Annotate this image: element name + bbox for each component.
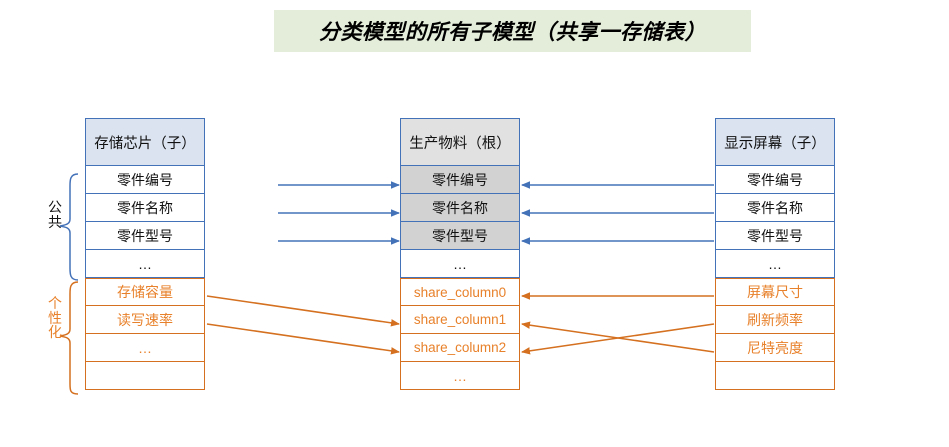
table-storage-chip-row-common-1: 零件名称: [85, 194, 205, 222]
group-label-custom: 个 性 化: [44, 296, 66, 340]
group-label-common: 公 共: [44, 200, 66, 229]
table-storage-chip: 存储芯片（子） 零件编号 零件名称 零件型号 … 存储容量 读写速率 …: [85, 118, 205, 390]
diagram-title-banner: 分类模型的所有子模型（共享一存储表）: [274, 10, 751, 52]
table-storage-chip-row-common-2: 零件型号: [85, 222, 205, 250]
table-display-screen-row-common-2: 零件型号: [715, 222, 835, 250]
table-display-screen-row-custom-3: [715, 362, 835, 390]
table-production-material-row-common-2: 零件型号: [400, 222, 520, 250]
arrow-left-custom-1: [207, 296, 399, 324]
table-display-screen: 显示屏幕（子） 零件编号 零件名称 零件型号 … 屏幕尺寸 刷新频率 尼特亮度: [715, 118, 835, 390]
table-production-material-row-custom-3: …: [400, 362, 520, 390]
diagram-canvas: 分类模型的所有子模型（共享一存储表）: [0, 0, 949, 447]
group-label-custom-char-2: 化: [44, 325, 66, 340]
table-production-material-header: 生产物料（根）: [400, 118, 520, 166]
table-display-screen-header: 显示屏幕（子）: [715, 118, 835, 166]
table-storage-chip-row-common-0: 零件编号: [85, 166, 205, 194]
table-display-screen-row-common-0: 零件编号: [715, 166, 835, 194]
table-storage-chip-row-custom-1: 读写速率: [85, 306, 205, 334]
group-label-custom-char-1: 性: [44, 311, 66, 326]
table-display-screen-row-common-3: …: [715, 250, 835, 278]
table-production-material-row-common-0: 零件编号: [400, 166, 520, 194]
group-label-common-char-0: 公: [44, 200, 66, 215]
table-production-material-row-custom-1: share_column1: [400, 306, 520, 334]
group-label-common-char-1: 共: [44, 215, 66, 230]
table-production-material: 生产物料（根） 零件编号 零件名称 零件型号 … share_column0 s…: [400, 118, 520, 390]
table-production-material-row-common-1: 零件名称: [400, 194, 520, 222]
table-display-screen-row-common-1: 零件名称: [715, 194, 835, 222]
table-production-material-row-custom-2: share_column2: [400, 334, 520, 362]
table-storage-chip-header: 存储芯片（子）: [85, 118, 205, 166]
arrow-left-custom-2: [207, 324, 399, 352]
table-display-screen-row-custom-2: 尼特亮度: [715, 334, 835, 362]
table-storage-chip-row-custom-2: …: [85, 334, 205, 362]
table-display-screen-row-custom-1: 刷新频率: [715, 306, 835, 334]
arrow-right-custom-2: [522, 324, 714, 352]
table-production-material-row-custom-0: share_column0: [400, 278, 520, 306]
group-label-custom-char-0: 个: [44, 296, 66, 311]
table-storage-chip-row-common-3: …: [85, 250, 205, 278]
table-production-material-row-common-3: …: [400, 250, 520, 278]
table-display-screen-row-custom-0: 屏幕尺寸: [715, 278, 835, 306]
page-title: 分类模型的所有子模型（共享一存储表）: [319, 16, 706, 46]
table-storage-chip-row-custom-0: 存储容量: [85, 278, 205, 306]
arrow-right-custom-3: [522, 324, 714, 352]
table-storage-chip-row-custom-3: [85, 362, 205, 390]
